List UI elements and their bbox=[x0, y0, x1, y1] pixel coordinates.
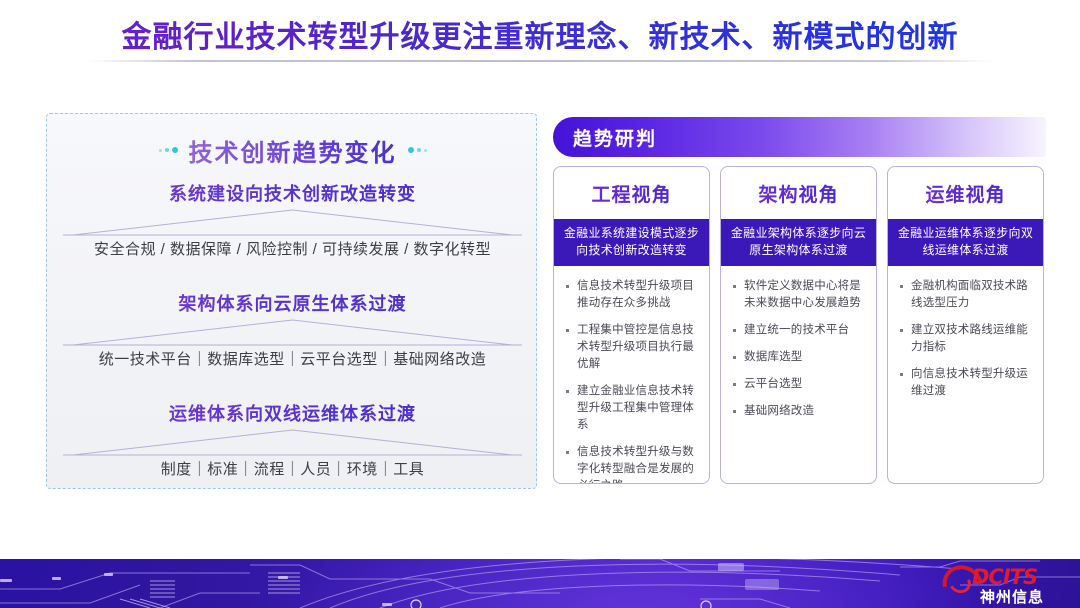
logo-text-cn: 神州信息 bbox=[980, 586, 1044, 607]
slide-header: 金融行业技术转型升级更注重新理念、新技术、新模式的创新 bbox=[0, 0, 1080, 66]
list-item: 云平台选型 bbox=[730, 376, 867, 393]
perspective-card-engineering[interactable]: 工程视角 金融业系统建设模式逐步向技术创新改造转变 信息技术转型升级项目推动存在… bbox=[553, 166, 710, 484]
card-banner: 金融业架构体系逐步向云原生架构体系过渡 bbox=[721, 219, 876, 266]
footer-banner: DCITS 神州信息 bbox=[0, 559, 1080, 608]
list-item: 建立双技术路线运维能力指标 bbox=[897, 322, 1034, 356]
trend-group-title: 运维体系向双线运维体系过渡 bbox=[47, 400, 538, 426]
list-item: 工程集中管控是信息技术转型升级项目执行最优解 bbox=[563, 322, 700, 373]
card-title: 工程视角 bbox=[554, 167, 709, 219]
chevron-up-icon bbox=[47, 426, 538, 456]
list-item: 金融机构面临双技术路线选型压力 bbox=[897, 278, 1034, 312]
list-item: 信息技术转型升级与数字化转型融合是发展的必行之路 bbox=[563, 444, 700, 484]
card-title: 运维视角 bbox=[888, 167, 1043, 219]
list-item: 信息技术转型升级项目推动存在众多挑战 bbox=[563, 278, 700, 312]
trend-group-2: 架构体系向云原生体系过渡 统一技术平台｜数据库选型｜云平台选型｜基础网络改造 bbox=[47, 290, 538, 369]
chevron-up-icon bbox=[47, 316, 538, 346]
list-item: 向信息技术转型升级运维过渡 bbox=[897, 366, 1034, 400]
card-banner: 金融业运维体系逐步向双线运维体系过渡 bbox=[888, 219, 1043, 266]
title-divider bbox=[86, 60, 994, 62]
trend-judgement-ribbon: 趋势研判 bbox=[553, 117, 1046, 157]
card-banner: 金融业系统建设模式逐步向技术创新改造转变 bbox=[554, 219, 709, 266]
trend-group-title: 系统建设向技术创新改造转变 bbox=[47, 180, 538, 206]
trend-group-3: 运维体系向双线运维体系过渡 制度｜标准｜流程｜人员｜环境｜工具 bbox=[47, 400, 538, 479]
card-bullet-list: 金融机构面临双技术路线选型压力 建立双技术路线运维能力指标 向信息技术转型升级运… bbox=[888, 266, 1043, 420]
dots-decoration-right-icon bbox=[408, 147, 427, 153]
left-panel-heading-label: 技术创新趋势变化 bbox=[189, 133, 397, 168]
perspective-card-list: 工程视角 金融业系统建设模式逐步向技术创新改造转变 信息技术转型升级项目推动存在… bbox=[553, 166, 1046, 486]
trend-group-title: 架构体系向云原生体系过渡 bbox=[47, 290, 538, 316]
trend-group-subline: 统一技术平台｜数据库选型｜云平台选型｜基础网络改造 bbox=[47, 348, 538, 369]
list-item: 基础网络改造 bbox=[730, 403, 867, 420]
trend-group-subline: 安全合规 / 数据保障 / 风险控制 / 可持续发展 / 数字化转型 bbox=[47, 238, 538, 259]
card-title: 架构视角 bbox=[721, 167, 876, 219]
list-item: 建立统一的技术平台 bbox=[730, 322, 867, 339]
trend-group-1: 系统建设向技术创新改造转变 安全合规 / 数据保障 / 风险控制 / 可持续发展… bbox=[47, 180, 538, 259]
trend-group-subline: 制度｜标准｜流程｜人员｜环境｜工具 bbox=[47, 458, 538, 479]
list-item: 数据库选型 bbox=[730, 349, 867, 366]
left-panel-heading: 技术创新趋势变化 bbox=[47, 133, 538, 167]
perspective-card-operations[interactable]: 运维视角 金融业运维体系逐步向双线运维体系过渡 金融机构面临双技术路线选型压力 … bbox=[887, 166, 1044, 484]
page-title: 金融行业技术转型升级更注重新理念、新技术、新模式的创新 bbox=[0, 12, 1080, 56]
list-item: 建立金融业信息技术转型升级工程集中管理体系 bbox=[563, 383, 700, 434]
dots-decoration-left-icon bbox=[159, 147, 178, 153]
ribbon-label: 趋势研判 bbox=[573, 117, 657, 157]
company-logo: DCITS 神州信息 bbox=[942, 563, 1070, 605]
card-bullet-list: 软件定义数据中心将是未来数据中心发展趋势 建立统一的技术平台 数据库选型 云平台… bbox=[721, 266, 876, 440]
circuit-pattern-icon bbox=[0, 559, 1080, 608]
trend-change-panel: 技术创新趋势变化 系统建设向技术创新改造转变 安全合规 / 数据保障 / 风险控… bbox=[46, 113, 537, 489]
chevron-up-icon bbox=[47, 206, 538, 236]
card-bullet-list: 信息技术转型升级项目推动存在众多挑战 工程集中管控是信息技术转型升级项目执行最优… bbox=[554, 266, 709, 484]
perspective-card-architecture[interactable]: 架构视角 金融业架构体系逐步向云原生架构体系过渡 软件定义数据中心将是未来数据中… bbox=[720, 166, 877, 484]
list-item: 软件定义数据中心将是未来数据中心发展趋势 bbox=[730, 278, 867, 312]
